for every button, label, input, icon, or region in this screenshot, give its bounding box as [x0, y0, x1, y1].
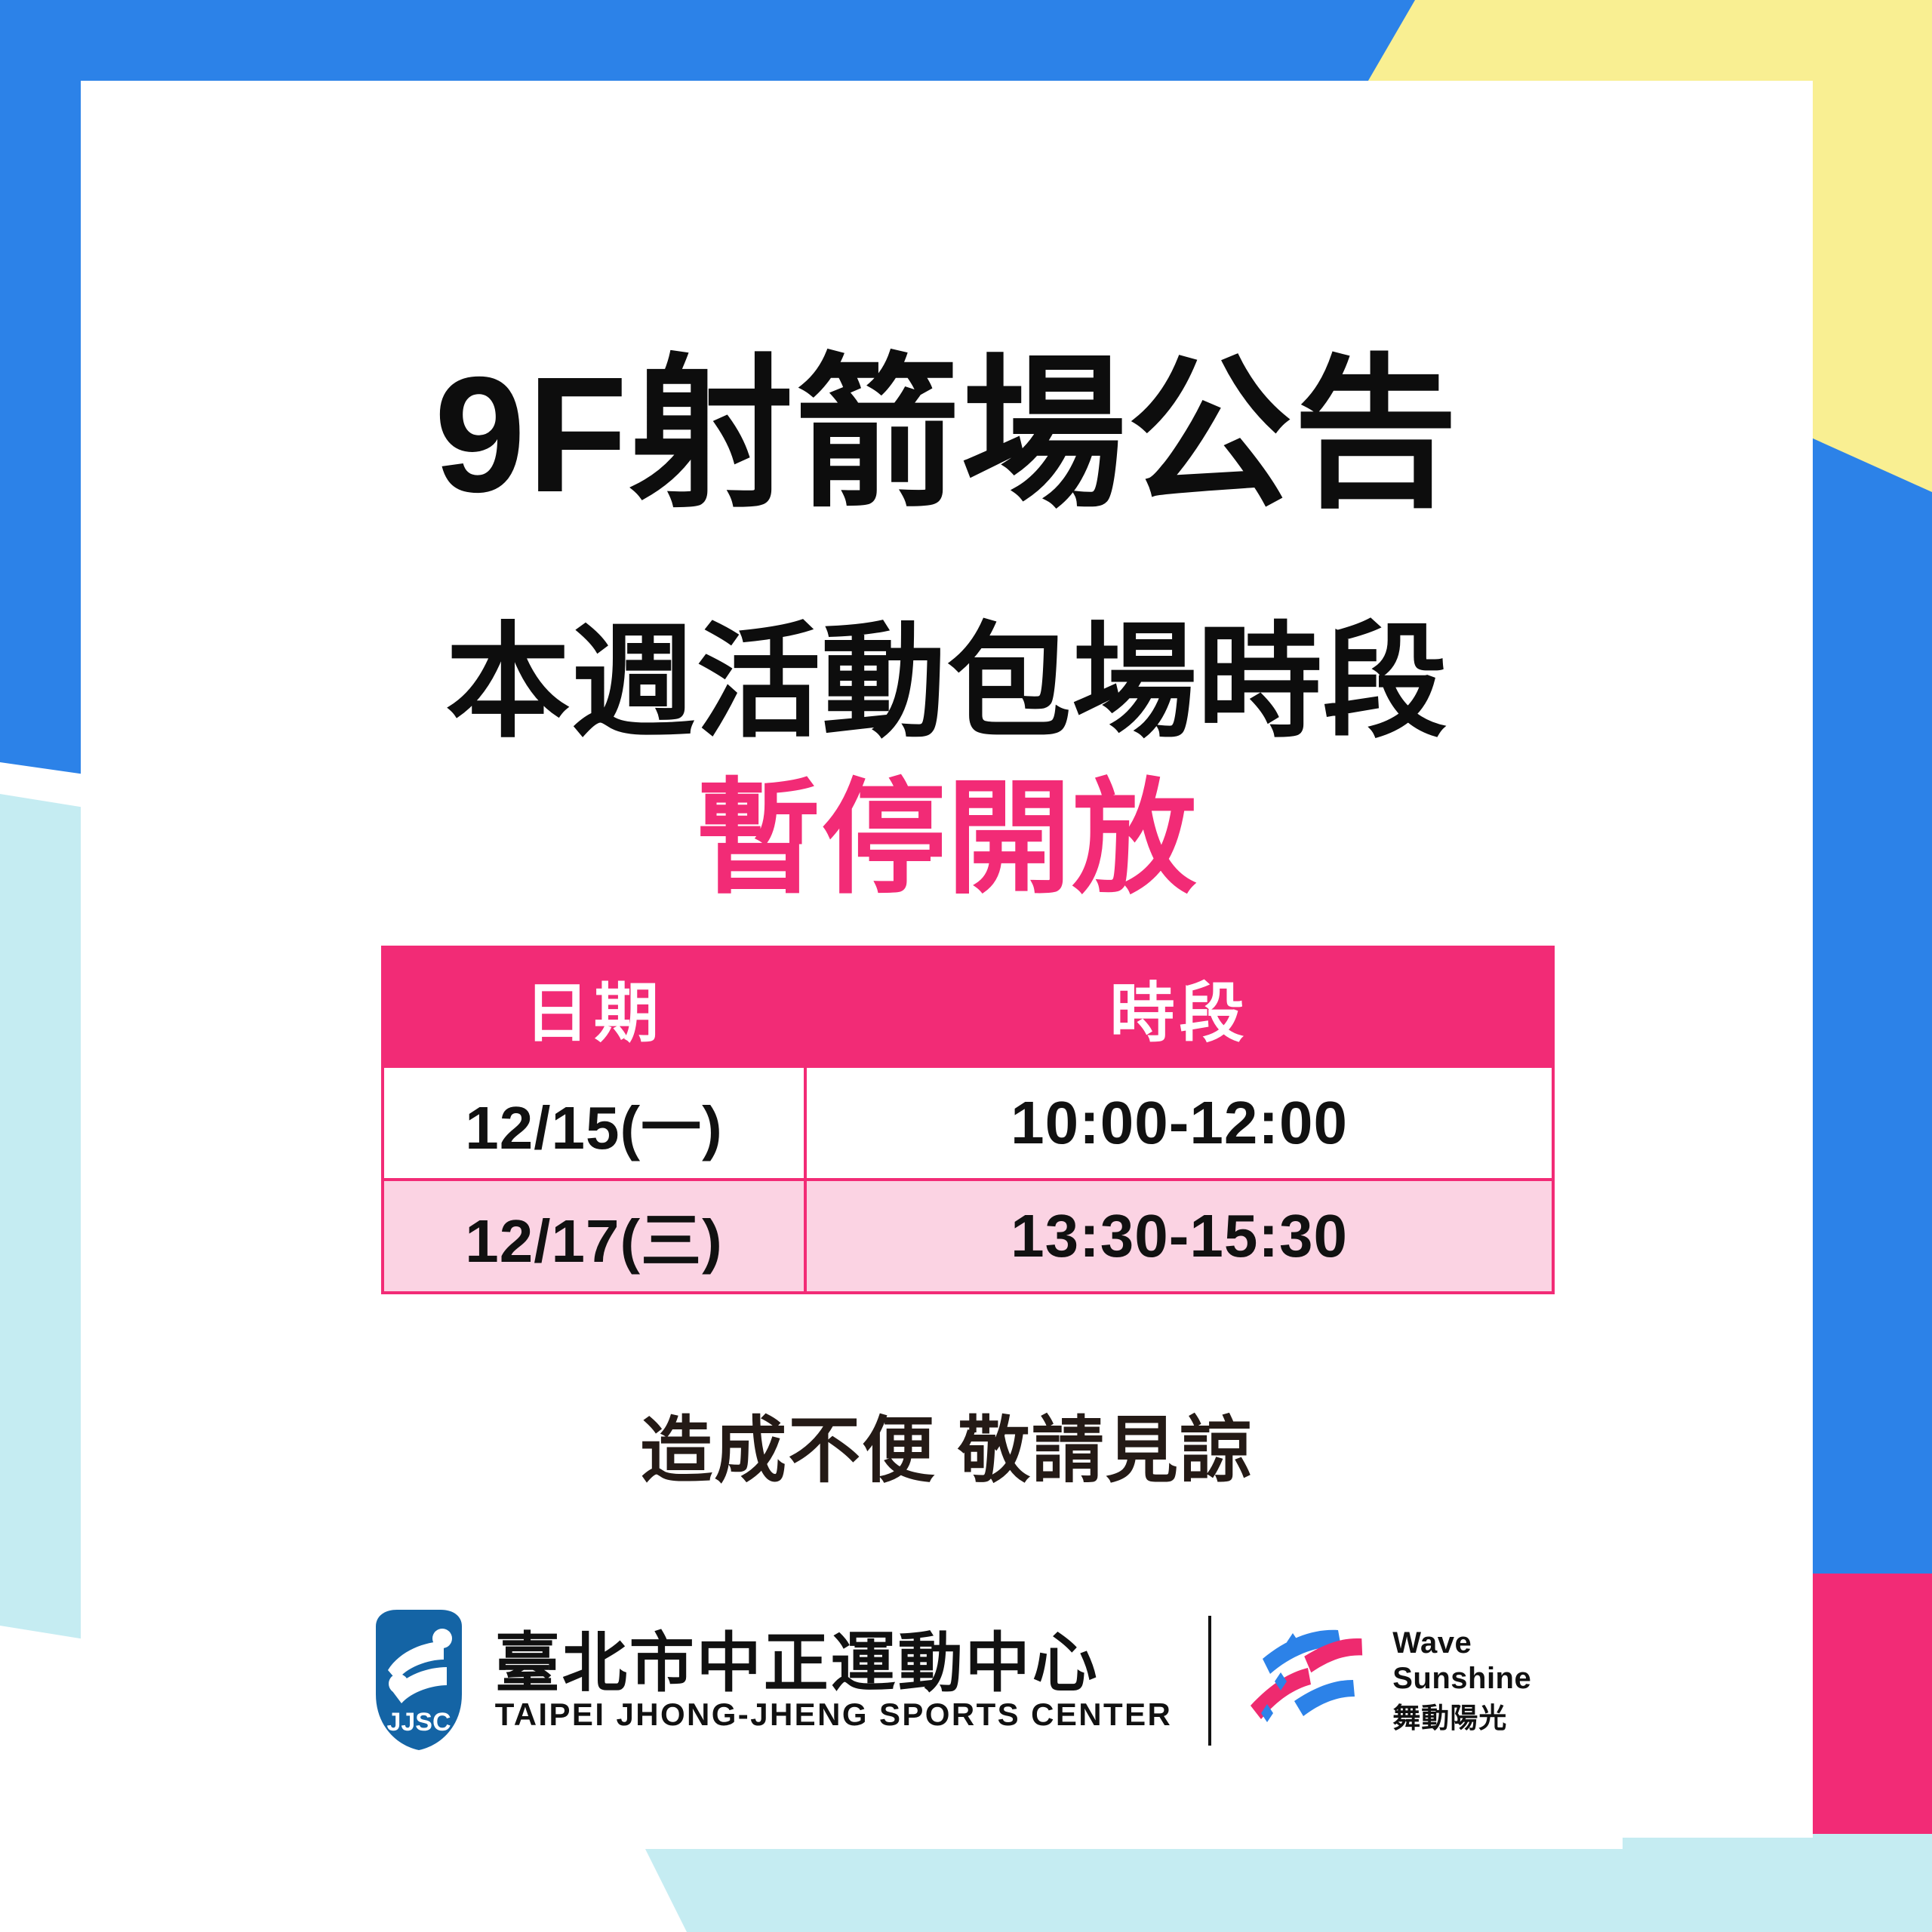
jjsc-logo-text: 臺北市中正運動中心 TAIPEI JHONG-JHENG SPORTS CENT… — [495, 1631, 1172, 1730]
jjsc-logo: JJSC 臺北市中正運動中心 TAIPEI JHONG-JHENG SPORTS… — [362, 1605, 1172, 1757]
column-header-date: 日期 — [383, 947, 805, 1066]
footer-divider — [1208, 1616, 1211, 1746]
apology-note: 造成不便 敬請見諒 — [81, 1415, 1813, 1487]
wave-sunshine-mark-icon — [1247, 1623, 1376, 1740]
decor-pink-bottom-right-shape — [1811, 1574, 1932, 1932]
cell-time: 10:00-12:00 — [805, 1066, 1553, 1180]
announcement-card: 9F射箭場公告 本週活動包場時段 暫停開放 日期 時段 12/15(一) 10:… — [81, 81, 1813, 1838]
jjsc-name-en: TAIPEI JHONG-JHENG SPORTS CENTER — [495, 1699, 1172, 1730]
closure-schedule-table: 日期 時段 12/15(一) 10:00-12:00 12/17(三) 13:3… — [381, 946, 1555, 1294]
column-header-time: 時段 — [805, 947, 1553, 1066]
jjsc-name-zh: 臺北市中正運動中心 — [495, 1631, 1172, 1696]
wave-sunshine-logo: Wave Sunshine 舞動陽光 — [1247, 1623, 1531, 1740]
table-row: 12/15(一) 10:00-12:00 — [383, 1066, 1553, 1180]
status-highlight: 暫停開放 — [81, 777, 1813, 901]
poster-canvas: 9F射箭場公告 本週活動包場時段 暫停開放 日期 時段 12/15(一) 10:… — [0, 0, 1932, 1932]
decor-cyan-bottom-shape — [645, 1849, 1932, 1932]
jjsc-shield-icon: JJSC — [362, 1605, 475, 1757]
page-title: 9F射箭場公告 — [81, 353, 1813, 518]
wave-name-en-line1: Wave — [1392, 1626, 1531, 1660]
subtitle: 本週活動包場時段 — [81, 620, 1813, 745]
decor-cyan-bottom-right-shape — [1623, 1834, 1932, 1932]
cell-date: 12/15(一) — [383, 1066, 805, 1180]
decor-cyan-left-shape — [0, 794, 85, 1639]
svg-text:JJSC: JJSC — [386, 1708, 451, 1737]
wave-sunshine-logo-text: Wave Sunshine 舞動陽光 — [1392, 1626, 1531, 1735]
table-body: 12/15(一) 10:00-12:00 12/17(三) 13:30-15:3… — [383, 1066, 1553, 1293]
cell-date: 12/17(三) — [383, 1180, 805, 1293]
wave-name-zh: 舞動陽光 — [1392, 1702, 1531, 1735]
table-header-row: 日期 時段 — [383, 947, 1553, 1066]
table-header: 日期 時段 — [383, 947, 1553, 1066]
footer-logos: JJSC 臺北市中正運動中心 TAIPEI JHONG-JHENG SPORTS… — [81, 1598, 1813, 1764]
table-row: 12/17(三) 13:30-15:30 — [383, 1180, 1553, 1293]
decor-blue-right-shape — [1811, 438, 1932, 1585]
decor-blue-top-bar-shape — [0, 0, 1419, 83]
cell-time: 13:30-15:30 — [805, 1180, 1553, 1293]
wave-name-en-line2: Sunshine — [1392, 1662, 1531, 1696]
